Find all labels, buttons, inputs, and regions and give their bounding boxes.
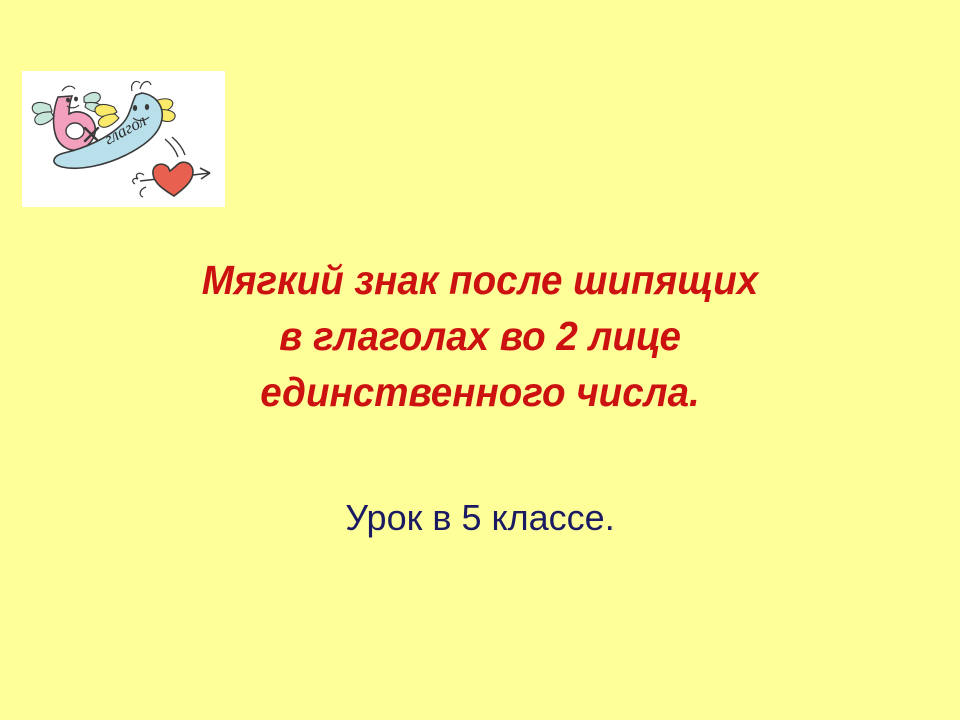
soft-sign-and-verb-bird-illustration: глагол — [22, 71, 225, 207]
title-line-1: Мягкий знак после шипящих — [29, 252, 931, 308]
subtitle-text: Урок в 5 классе. — [0, 496, 960, 540]
title-line-2: в глаголах во 2 лице — [29, 308, 931, 364]
title-line-3: единственного числа. — [29, 364, 931, 420]
presentation-slide: глагол Мягкий знак после шипящих в глаго… — [0, 0, 960, 720]
illustration-frame: глагол — [22, 71, 225, 207]
subtitle: Урок в 5 классе. — [0, 496, 960, 540]
page-title: Мягкий знак после шипящих в глаголах во … — [0, 252, 960, 420]
